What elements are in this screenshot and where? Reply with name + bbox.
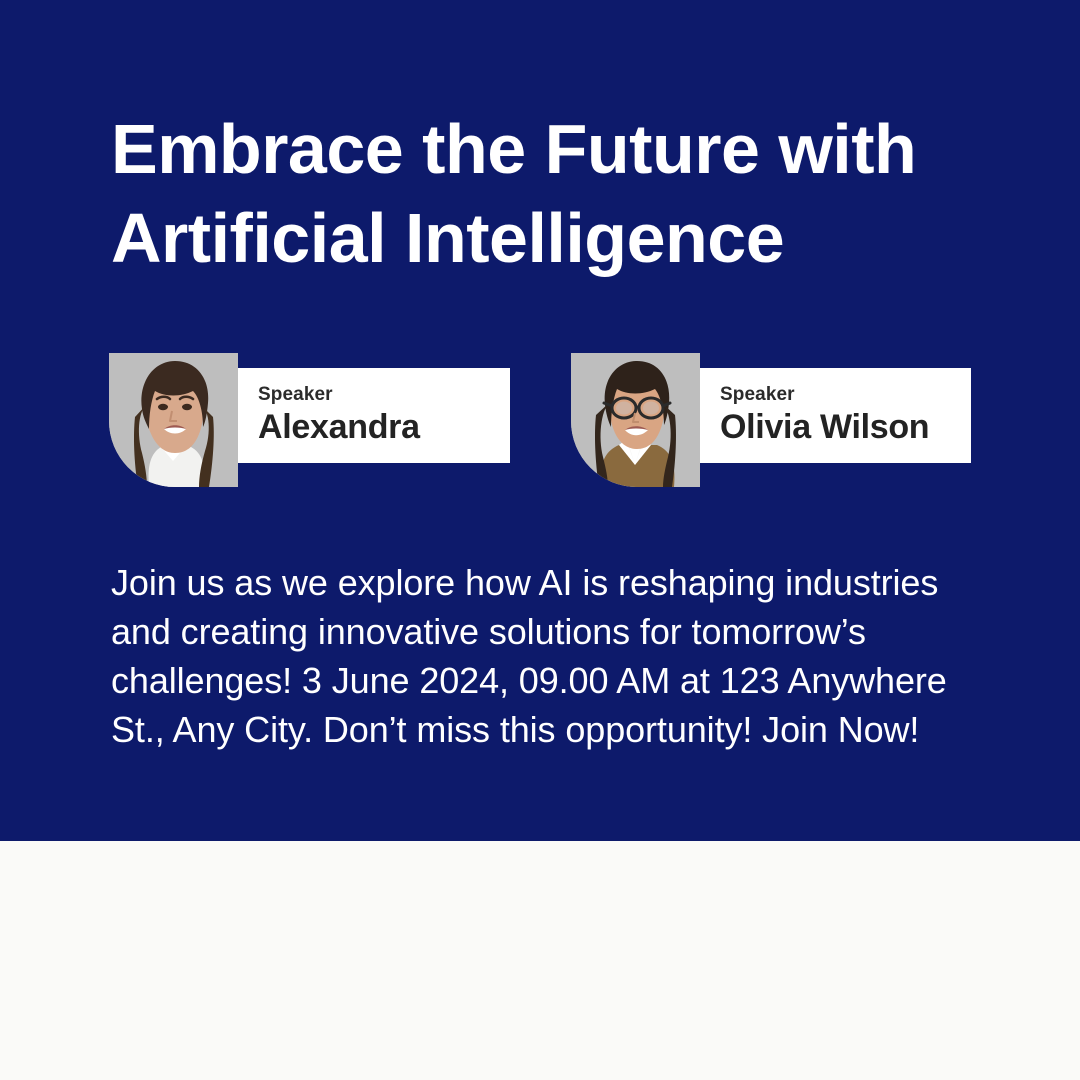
speaker-portrait-photo bbox=[109, 353, 238, 487]
speaker-info-panel: Speaker Alexandra bbox=[238, 368, 510, 463]
hero-panel: Embrace the Future with Artificial Intel… bbox=[0, 0, 1080, 841]
page-title: Embrace the Future with Artificial Intel… bbox=[111, 105, 1011, 283]
speaker-portrait-photo bbox=[571, 353, 700, 487]
speaker-role-label: Speaker bbox=[720, 384, 971, 406]
speaker-name: Alexandra bbox=[258, 407, 510, 447]
speaker-role-label: Speaker bbox=[258, 384, 510, 406]
event-description: Join us as we explore how AI is reshapin… bbox=[111, 558, 991, 754]
footer-bar: Capcut Free Registration! Follow our soc… bbox=[0, 841, 1080, 1080]
speaker-list: Speaker Alexandra bbox=[0, 353, 1080, 493]
speaker-info-panel: Speaker Olivia Wilson bbox=[700, 368, 971, 463]
speaker-name: Olivia Wilson bbox=[720, 407, 971, 447]
event-poster: Embrace the Future with Artificial Intel… bbox=[0, 0, 1080, 1080]
